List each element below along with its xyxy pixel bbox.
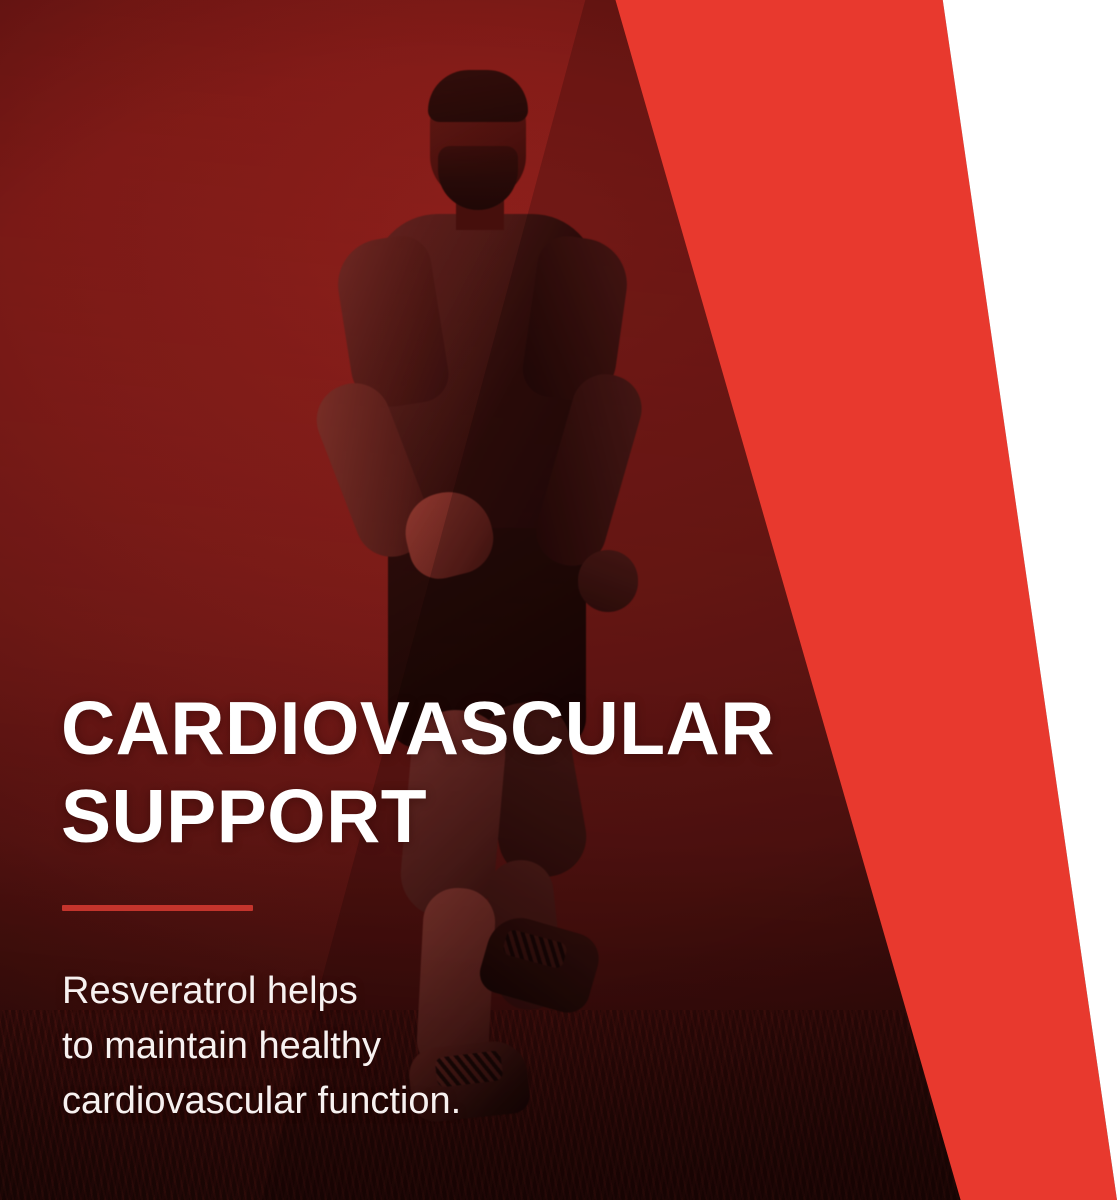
subcopy-line-1: Resveratrol helps <box>62 964 781 1019</box>
subcopy: Resveratrol helps to maintain healthy ca… <box>62 964 781 1129</box>
subcopy-line-3: cardiovascular function. <box>62 1074 781 1129</box>
headline-line-2: SUPPORT <box>61 772 781 860</box>
cardiovascular-support-banner: CARDIOVASCULAR SUPPORT Resveratrol helps… <box>0 0 1117 1200</box>
page-title: CARDIOVASCULAR SUPPORT <box>61 684 781 860</box>
subcopy-line-2: to maintain healthy <box>62 1019 781 1074</box>
accent-rule <box>62 905 253 911</box>
headline-line-1: CARDIOVASCULAR <box>61 684 781 772</box>
banner-content: CARDIOVASCULAR SUPPORT Resveratrol helps… <box>61 684 781 1129</box>
